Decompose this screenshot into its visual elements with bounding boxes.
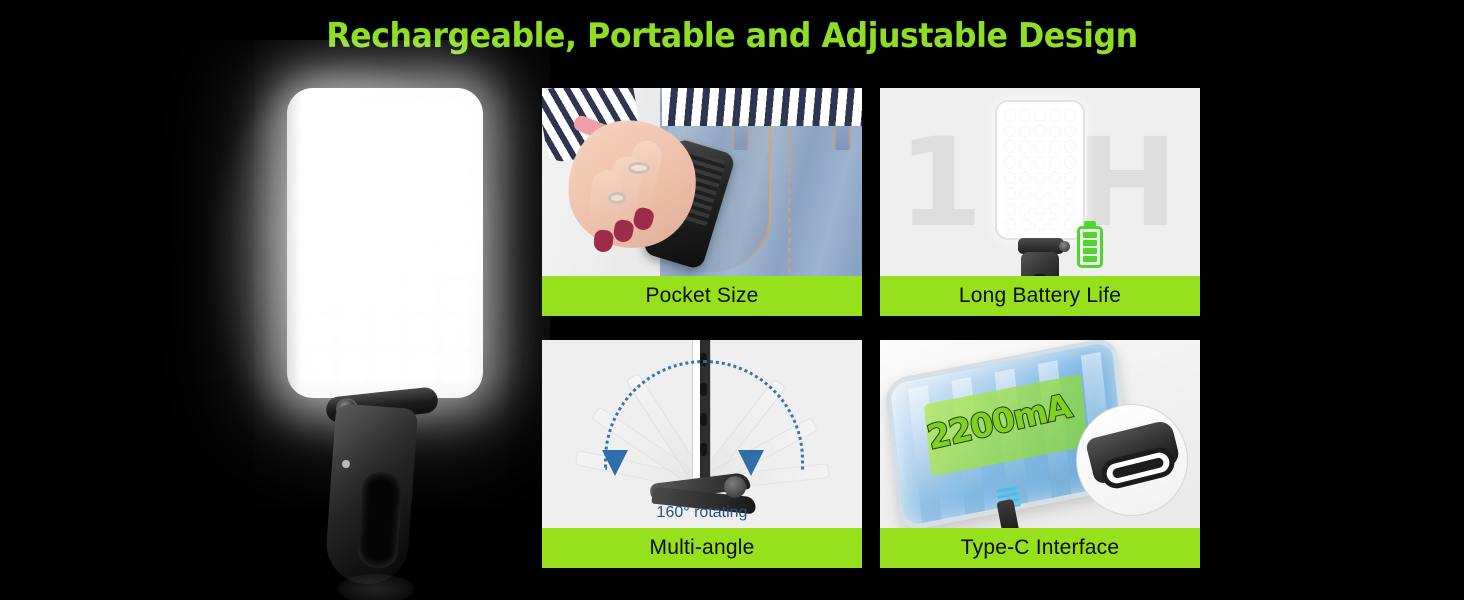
rotation-arrow-left bbox=[602, 450, 628, 476]
spring-clip-small bbox=[1021, 252, 1059, 276]
feature-label-multi-angle: Multi-angle bbox=[542, 528, 862, 568]
type-c-connector-callout bbox=[1076, 404, 1188, 516]
ring bbox=[628, 162, 650, 174]
clip-cutout bbox=[357, 471, 404, 570]
led-panel bbox=[287, 88, 483, 398]
spring-clip bbox=[316, 406, 434, 592]
feature-card-multi-angle: 160° rotating Multi-angle bbox=[542, 340, 862, 568]
fingernail bbox=[593, 229, 614, 253]
battery-life-illustration: 15H bbox=[880, 88, 1200, 276]
type-c-illustration: 2200mA bbox=[880, 340, 1200, 528]
hero-product-image bbox=[150, 40, 550, 600]
pocket-size-illustration bbox=[542, 88, 862, 276]
clip-pin bbox=[342, 460, 350, 468]
ring bbox=[608, 192, 626, 204]
feature-card-long-battery-life: 15H bbox=[880, 88, 1200, 316]
feature-card-type-c-interface: 2200mA Type-C Interface bbox=[880, 340, 1200, 568]
feature-label-pocket-size: Pocket Size bbox=[542, 276, 862, 316]
infographic-canvas: Rechargeable, Portable and Adjustable De… bbox=[0, 0, 1464, 600]
feature-label-type-c-interface: Type-C Interface bbox=[880, 528, 1200, 568]
rotation-annotation: 160° rotating bbox=[542, 504, 862, 522]
rotation-arrow-right bbox=[738, 450, 764, 476]
feature-card-grid: Pocket Size 15H bbox=[542, 88, 1200, 568]
feature-card-pocket-size: Pocket Size bbox=[542, 88, 862, 316]
panel-diffuser bbox=[287, 88, 483, 398]
clip-pivot bbox=[724, 476, 746, 498]
clip-reflection bbox=[338, 574, 414, 600]
feature-label-long-battery-life: Long Battery Life bbox=[880, 276, 1200, 316]
battery-full-icon bbox=[1077, 226, 1103, 268]
led-panel-small bbox=[995, 100, 1085, 240]
multi-angle-illustration: 160° rotating bbox=[542, 340, 862, 528]
led-grid-small bbox=[1004, 109, 1076, 231]
striped-sweater bbox=[662, 88, 862, 126]
